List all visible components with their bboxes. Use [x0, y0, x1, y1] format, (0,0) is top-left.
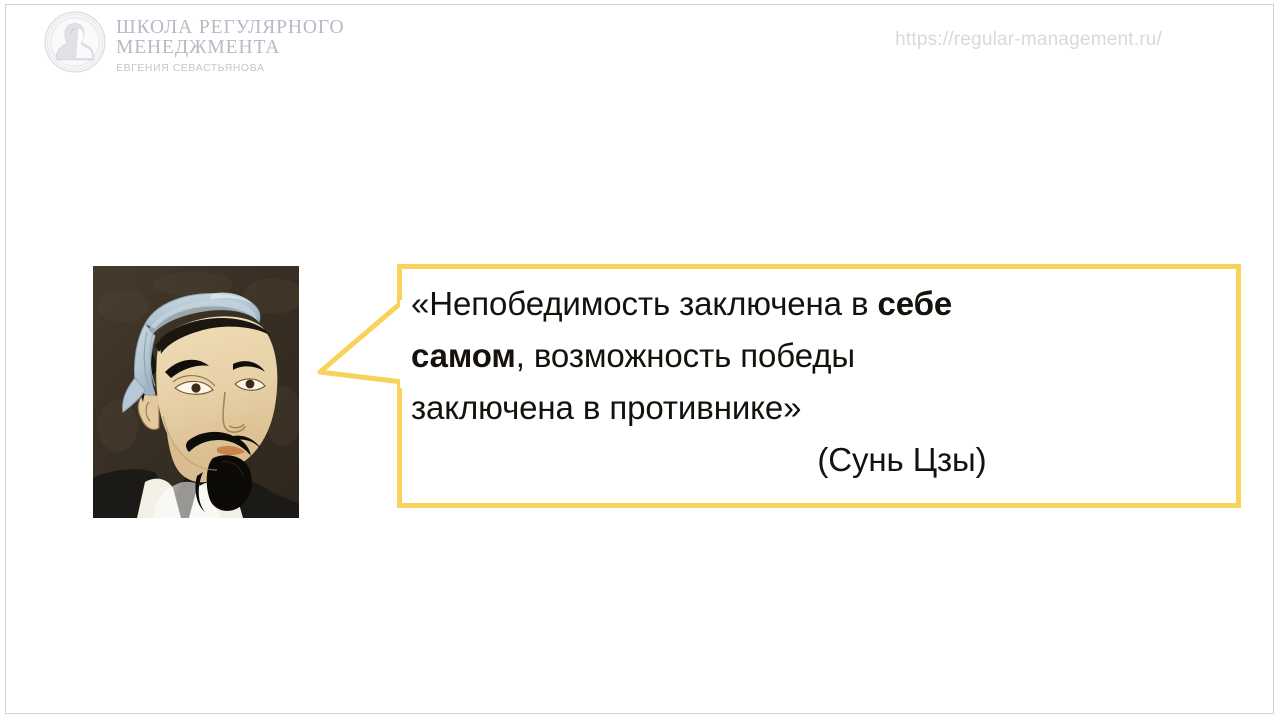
site-url: https://regular-management.ru/	[895, 29, 1162, 51]
quote-line-3-pre: заключена в противнике»	[411, 389, 801, 426]
brand-text-block: ШКОЛА РЕГУЛЯРНОГО МЕНЕДЖМЕНТА ЕВГЕНИЯ СЕ…	[116, 11, 345, 74]
slide-canvas: ШКОЛА РЕГУЛЯРНОГО МЕНЕДЖМЕНТА ЕВГЕНИЯ СЕ…	[0, 0, 1280, 720]
brand-title: ШКОЛА РЕГУЛЯРНОГО МЕНЕДЖМЕНТА	[116, 18, 345, 58]
quote-text: «Непобедимость заключена в себе самом, в…	[397, 264, 1241, 508]
quote-line-2-post: , возможность победы	[516, 337, 855, 374]
quote-attribution: (Сунь Цзы)	[411, 434, 1223, 486]
sun-tzu-portrait-image	[93, 266, 299, 518]
profile-medallion-icon	[44, 11, 106, 73]
quote-line-1: «Непобедимость заключена в себе	[411, 278, 1223, 330]
quote-line-3: заключена в противнике»	[411, 382, 1223, 434]
quote-line-1-bold: себе	[878, 285, 953, 322]
quote-line-1-pre: «Непобедимость заключена в	[411, 285, 878, 322]
brand-logo: ШКОЛА РЕГУЛЯРНОГО МЕНЕДЖМЕНТА ЕВГЕНИЯ СЕ…	[44, 11, 345, 74]
speech-bubble-tail	[316, 300, 408, 390]
brand-subtitle: ЕВГЕНИЯ СЕВАСТЬЯНОВА	[116, 62, 345, 74]
quote-line-2: самом, возможность победы	[411, 330, 1223, 382]
quote-line-2-bold: самом	[411, 337, 516, 374]
